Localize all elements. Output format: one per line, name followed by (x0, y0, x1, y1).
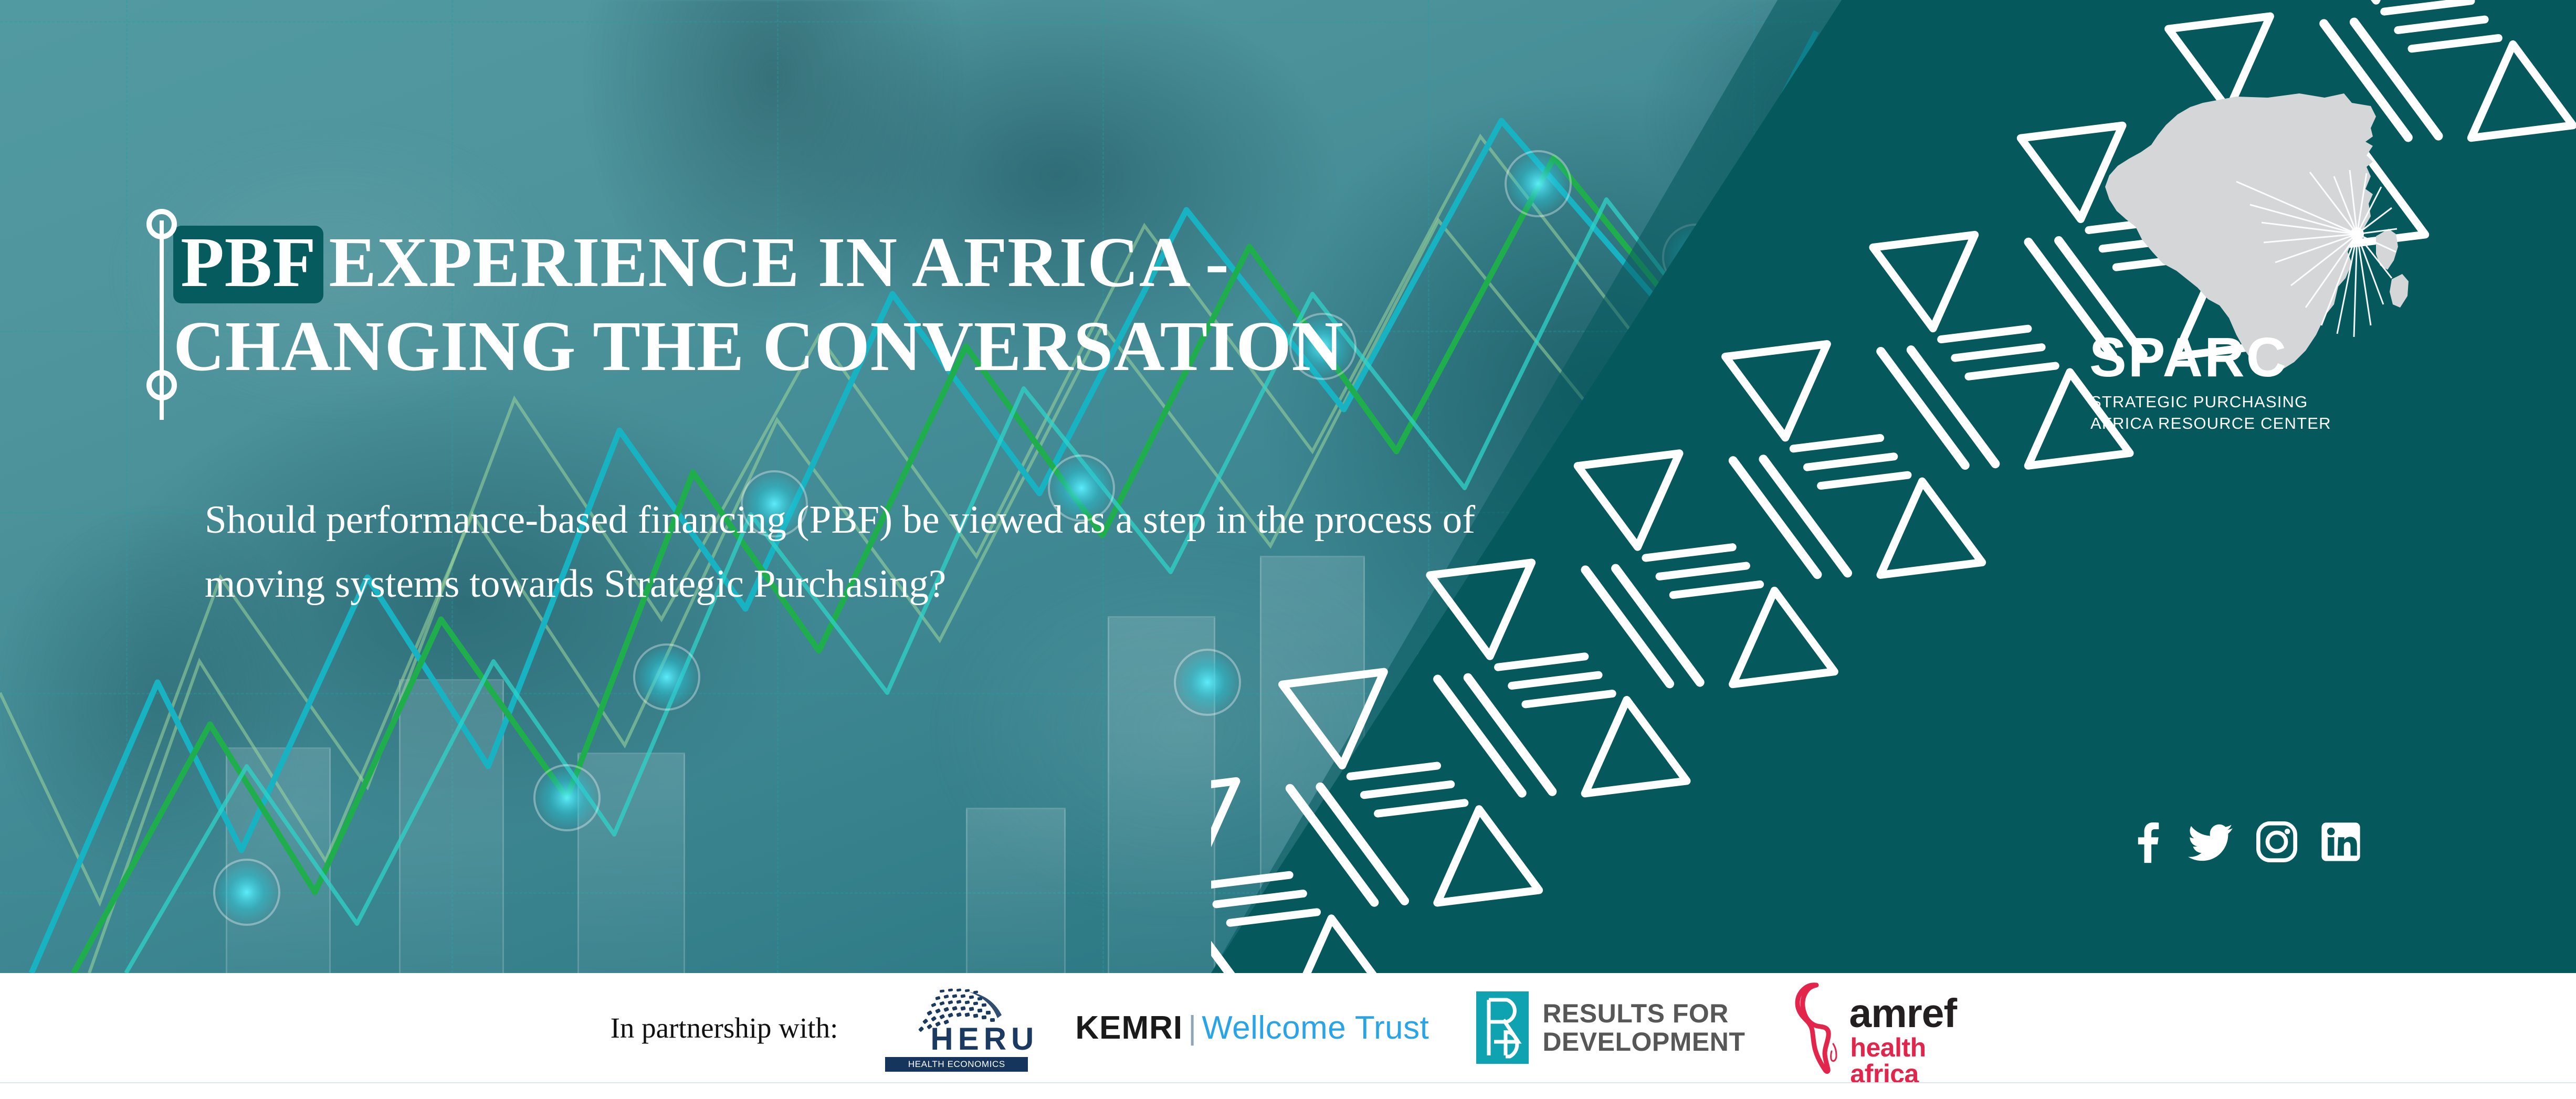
title-highlight-tag: PBF (173, 226, 323, 303)
twitter-link[interactable] (2186, 819, 2234, 865)
sparc-wordmark: SPARC (2089, 330, 2288, 385)
sparc-event-banner: PBFEXPERIENCE IN AFRICA - CHANGING THE C… (0, 0, 2576, 1099)
title-rest: EXPERIENCE IN AFRICA - (329, 223, 1229, 302)
partners-row: In partnership with: (0, 973, 2576, 1082)
facebook-link[interactable] (2126, 819, 2165, 865)
r4d-mark-icon (1476, 991, 1529, 1064)
partnership-label: In partnership with: (611, 1011, 838, 1044)
r4d-line2: DEVELOPMENT (1542, 1028, 1745, 1056)
sparc-tagline-line1: STRATEGIC PURCHASING (2090, 394, 2308, 410)
page-title-line2: CHANGING THE CONVERSATION (173, 304, 1591, 388)
heru-tagline: HEALTH ECONOMICS RESEARCH UNIT (885, 1057, 1028, 1072)
kemri-divider: | (1188, 1009, 1196, 1047)
facebook-icon (2126, 819, 2165, 865)
social-links (2126, 819, 2362, 865)
sparc-logo: SPARC STRATEGIC PURCHASING AFRICA RESOUR… (2079, 79, 2425, 404)
twitter-icon (2186, 819, 2234, 865)
r4d-line1: RESULTS FOR (1542, 999, 1745, 1028)
linkedin-link[interactable] (2319, 820, 2362, 863)
amref-wordmark: amref (1849, 994, 1957, 1034)
instagram-link[interactable] (2255, 820, 2298, 863)
r4d-glyph (1476, 991, 1529, 1064)
wellcome-trust-wordmark: Wellcome Trust (1202, 1009, 1429, 1047)
instagram-icon (2255, 820, 2298, 863)
r4d-wordmark: RESULTS FOR DEVELOPMENT (1542, 999, 1745, 1056)
partner-logo-results-for-development: RESULTS FOR DEVELOPMENT (1476, 991, 1745, 1064)
headline-block: PBFEXPERIENCE IN AFRICA - CHANGING THE C… (173, 220, 1591, 389)
partner-logo-heru: HERU HEALTH ECONOMICS RESEARCH UNIT (885, 984, 1028, 1072)
amref-tagline: health africa (1850, 1034, 1965, 1087)
heru-wordmark: HERU (930, 1023, 1038, 1055)
linkedin-icon (2319, 820, 2362, 863)
footer: In partnership with: (0, 973, 2576, 1099)
page-subtitle: Should performance-based financing (PBF)… (205, 488, 1517, 616)
partner-logo-kemri-wellcome-trust: KEMRI | Wellcome Trust (1075, 1009, 1429, 1047)
title-accent-dot-bottom (146, 370, 177, 400)
footer-divider (0, 1082, 2576, 1083)
title-accent-dot-top (146, 209, 177, 239)
page-title: PBFEXPERIENCE IN AFRICA - (173, 220, 1591, 304)
hero-section: PBFEXPERIENCE IN AFRICA - CHANGING THE C… (0, 0, 2576, 973)
partner-logo-amref-health-africa: amref health africa (1792, 982, 1965, 1074)
kemri-wordmark: KEMRI (1075, 1009, 1183, 1047)
sparc-tagline-line2: AFRICA RESOURCE CENTER (2090, 415, 2331, 431)
